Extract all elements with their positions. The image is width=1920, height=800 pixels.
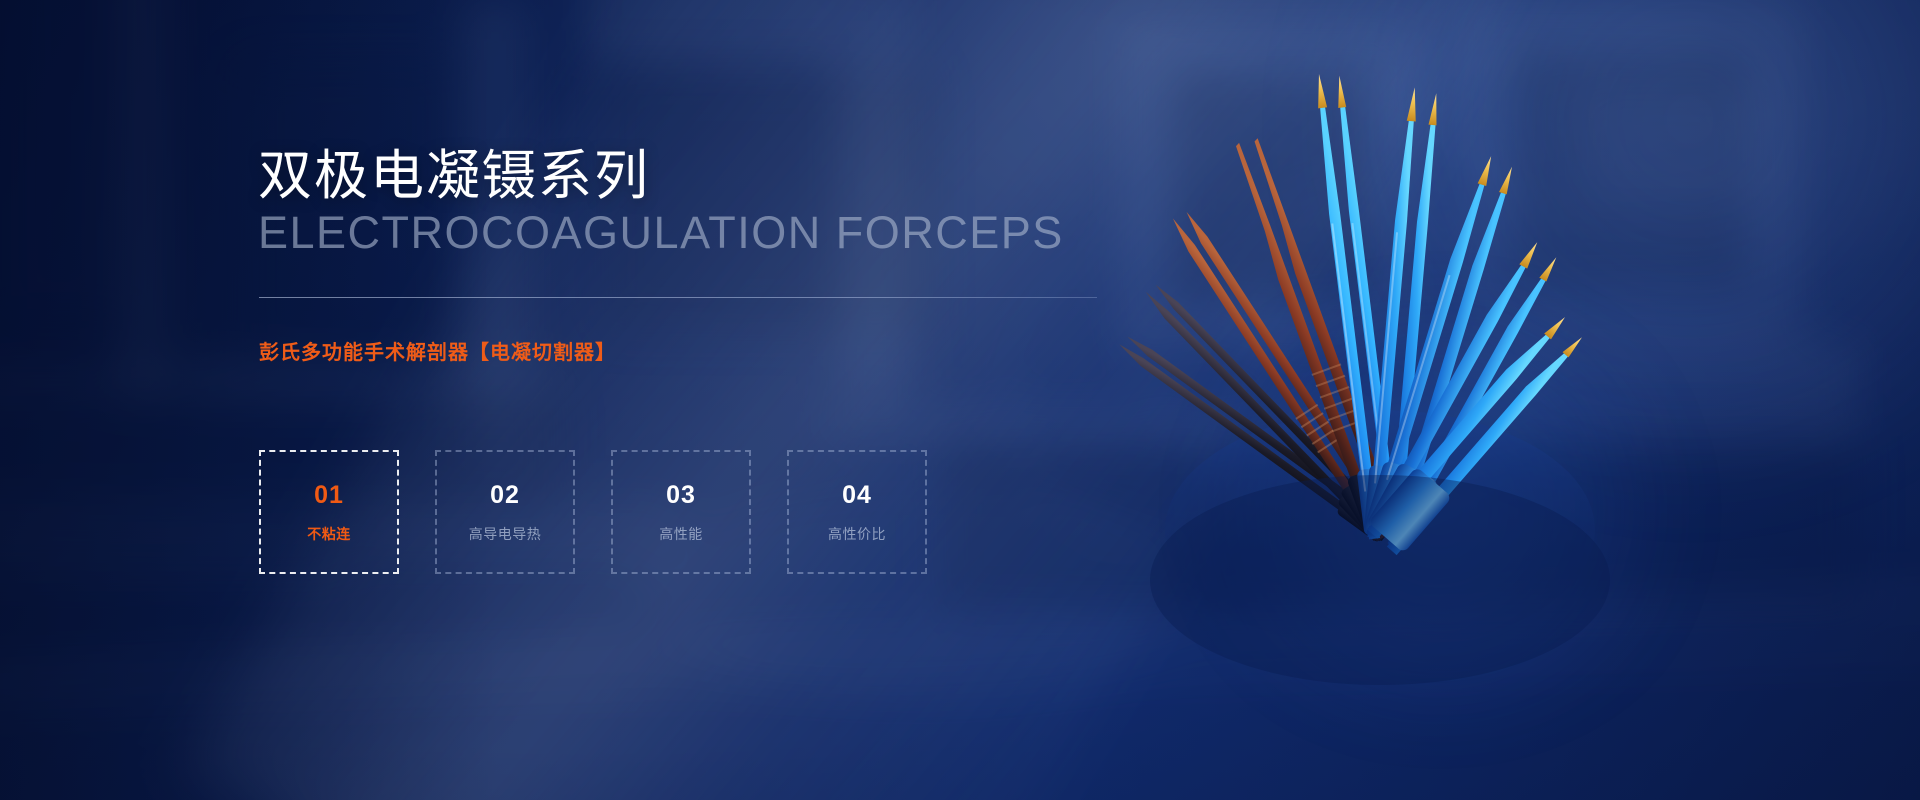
feature-label: 不粘连 [307, 527, 351, 541]
feature-card-01[interactable]: 01 不粘连 [259, 450, 399, 574]
feature-number: 02 [490, 483, 520, 508]
feature-label: 高导电导热 [469, 527, 542, 541]
feature-number: 04 [842, 483, 872, 508]
page-title-cn: 双极电凝镊系列 [258, 148, 650, 205]
feature-card-04[interactable]: 04 高性价比 [787, 450, 927, 574]
feature-list: 01 不粘连 02 高导电导热 03 高性能 04 高性价比 [259, 450, 927, 574]
feature-card-03[interactable]: 03 高性能 [611, 450, 751, 574]
feature-label: 高性价比 [828, 527, 886, 541]
banner-content: 双极电凝镊系列 ELECTROCOAGULATION FORCEPS 彭氏多功能… [258, 0, 1198, 800]
product-glow [1180, 300, 1700, 720]
feature-number: 01 [314, 483, 344, 508]
feature-number: 03 [666, 483, 696, 508]
product-banner: 双极电凝镊系列 ELECTROCOAGULATION FORCEPS 彭氏多功能… [0, 0, 1920, 800]
product-subtitle: 彭氏多功能手术解剖器【电凝切割器】 [259, 336, 616, 365]
feature-label: 高性能 [659, 527, 703, 541]
page-title-en: ELECTROCOAGULATION FORCEPS [258, 209, 1064, 256]
feature-card-02[interactable]: 02 高导电导热 [435, 450, 575, 574]
title-divider [259, 297, 1097, 298]
